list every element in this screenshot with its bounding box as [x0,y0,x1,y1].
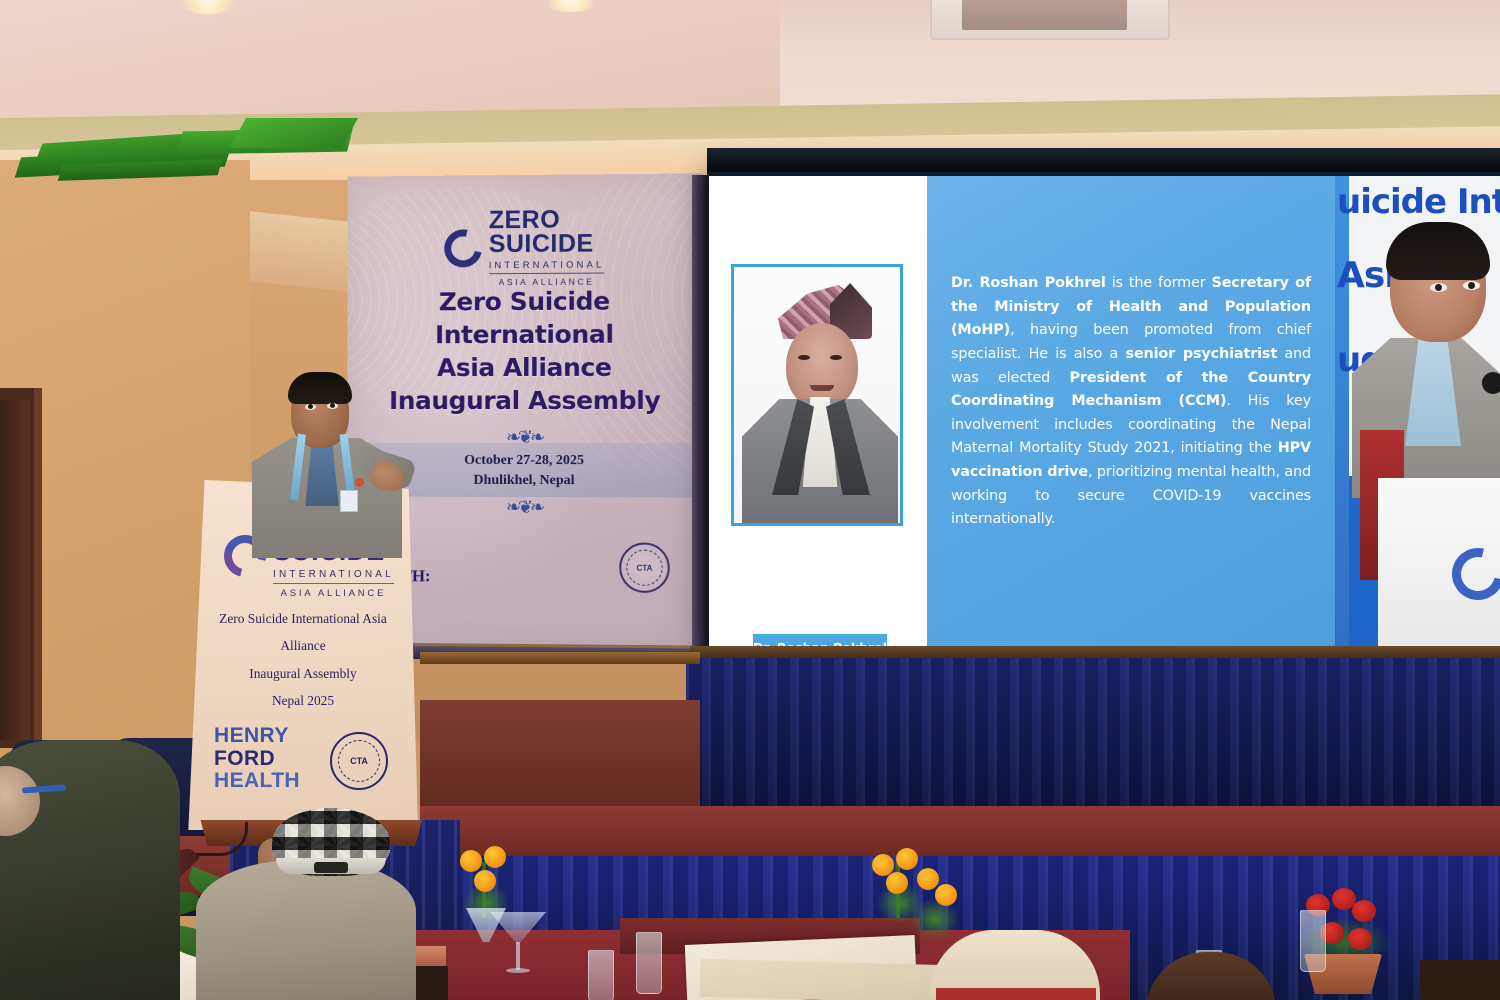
red-flower-5 [1348,928,1372,950]
speaker-hair [288,372,352,404]
presentation-slide: Dr. Roshan Pokhrel Dr. Roshan Pokhrel is… [709,176,1335,646]
banner-flourish-top-icon: ❧❦❧ [347,427,703,448]
slide-bio-panel: Dr. Roshan Pokhrel is the former Secreta… [927,176,1335,646]
banner-logo-suicide: SUICIDE [489,232,594,256]
podium-title-line-1: Zero Suicide International Asia Alliance [196,605,410,660]
door-panel [0,400,30,740]
banner-zsi-wordmark: ZERO SUICIDE INTERNATIONAL ASIA ALLIANCE [489,208,605,286]
live-feed-banner-text-1: uicide Intern [1337,182,1500,222]
vase-bowl [490,912,546,944]
banner-zsi-logo: ZERO SUICIDE INTERNATIONAL ASIA ALLIANCE [347,208,703,288]
hfh-line-2: FORD [214,748,275,770]
portrait-caption: Dr. Roshan Pokhrel [753,634,887,646]
live-feed-eye-left [1430,283,1447,292]
decorative-glass-vase [490,912,546,982]
red-flower-3 [1352,900,1376,922]
podium-logo-asia-alliance: ASIA ALLIANCE [273,588,394,599]
portrait-face [786,323,858,409]
banner-logo-international: INTERNATIONAL [489,259,605,274]
podium-seal-label: CTA [332,734,386,788]
ceiling-ac-vent [962,0,1127,30]
stage-upper-floor [420,700,700,820]
banner-title-line-3: Inaugural Assembly [361,384,689,417]
banner-cta-seal-icon: CTA [619,542,669,593]
marigold-flower-5 [935,884,957,906]
drinking-glass-5 [1300,910,1326,972]
podium-title-line-2: Inaugural Assembly [196,660,410,687]
banner-title: Zero Suicide International Asia Alliance… [361,284,689,417]
table-papers-stack-lower [700,959,951,1000]
banner-title-line-1: Zero Suicide International [361,284,689,351]
vase-foot [506,968,530,973]
conference-photo-scene: ZERO SUICIDE INTERNATIONAL ASIA ALLIANCE… [0,0,1500,1000]
live-feed-blue-bar [1335,176,1349,646]
portrait-mouth [810,385,834,391]
topi-clip [314,862,348,873]
stage-skirt-upper [686,658,1500,810]
hfh-line-1: HENRY [214,725,289,747]
speaker-name-badge [340,490,358,512]
stage-wood-trim [420,652,700,664]
podium-cta-seal-icon: CTA [330,732,388,790]
slide-portrait-panel: Dr. Roshan Pokhrel [709,176,927,646]
speaker-lapel-pin-icon [355,478,364,487]
live-feed-eye-right [1463,281,1480,290]
live-feed-microphone-icon [1482,372,1500,394]
podium-event-title: Zero Suicide International Asia Alliance… [196,605,410,715]
banner-title-line-2: Asia Alliance [361,351,689,385]
drinking-glass-3 [636,932,662,994]
podium-logo-international: INTERNATIONAL [273,569,394,584]
foreground-dark-object [1420,960,1500,1000]
speaker-eye-left [305,404,316,410]
portrait-eye-left [798,355,810,360]
banner-seal-label: CTA [621,544,667,590]
vase-stem [516,942,520,970]
banner-right-edge [692,175,708,665]
podium-title-line-3: Nepal 2025 [196,687,410,714]
wall-art-green-4 [230,118,358,148]
marigold-flower-3 [474,870,496,892]
marigold-flower-1 [460,850,482,872]
foreground-chair-sash [936,988,1096,1000]
henry-ford-health-logo: HENRY FORD HEALTH [214,725,300,792]
hfh-line-3: HEALTH [214,770,300,792]
stage-deck [420,806,1500,858]
marigold-flower-4 [917,868,939,890]
speaker-portrait-frame [731,264,903,526]
slide-bio-text: Dr. Roshan Pokhrel is the former Secreta… [951,272,1311,532]
portrait-eye-right [830,355,842,360]
marigold-flower-2 [484,846,506,868]
zsi-ring-icon [437,222,489,274]
speaker-eye-right [327,403,338,409]
foreground-attendee-center [196,860,416,1000]
drinking-glass-2 [588,950,614,1000]
